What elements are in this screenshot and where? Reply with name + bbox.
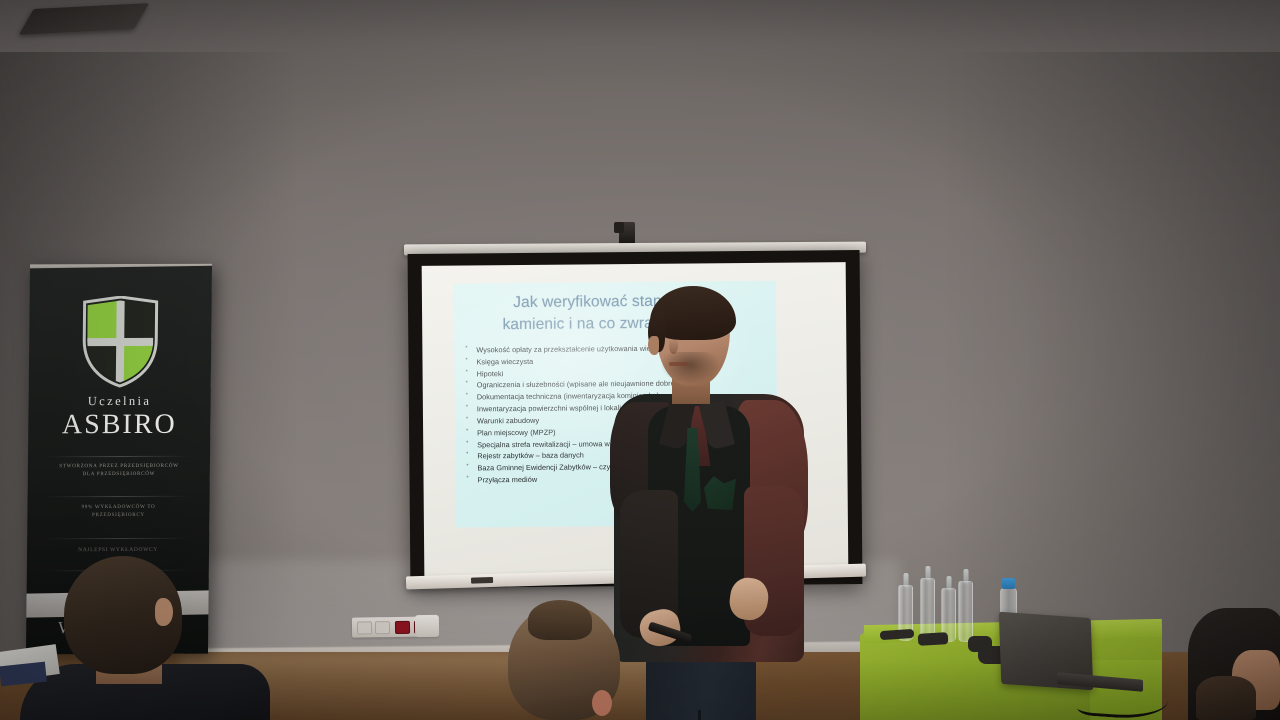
light-switch[interactable] xyxy=(415,615,439,637)
speaker-leg-seam xyxy=(698,710,701,720)
presentation-room-scene: Jak weryfikować stan prawny kamienic i n… xyxy=(0,0,1280,720)
socket-white-2 xyxy=(375,621,390,634)
socket-white-1 xyxy=(357,621,372,634)
speaker-figure xyxy=(604,290,814,720)
attendee-right-edge-hair xyxy=(1196,676,1256,720)
glass-bottle-2 xyxy=(920,578,935,640)
socket-red-1 xyxy=(395,621,410,634)
speaker-nose xyxy=(669,338,678,354)
attendee-front-center-hair xyxy=(528,600,592,640)
speaker-beard xyxy=(660,352,720,384)
speaker-ear xyxy=(648,336,659,355)
glass-bottle-4 xyxy=(958,581,973,642)
wall-shadow-right xyxy=(940,52,1280,662)
attendee-front-left-ear xyxy=(155,598,173,626)
bottle-cap xyxy=(1002,578,1015,589)
attendee-front-center-ear xyxy=(592,690,612,716)
speaker-mouth xyxy=(669,362,688,366)
table-item-case xyxy=(918,632,949,646)
